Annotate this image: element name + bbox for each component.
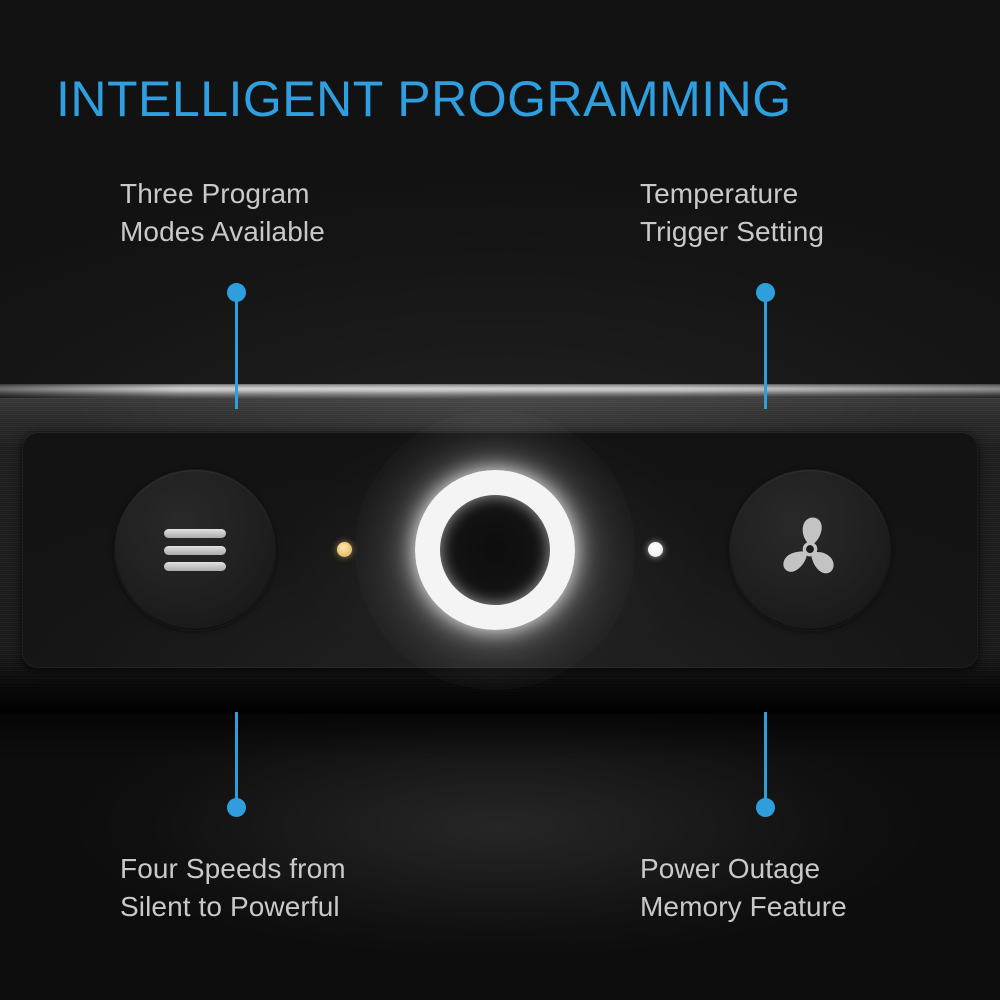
leader-dot — [227, 798, 246, 817]
callout-bottom-right: Power Outage Memory Feature — [640, 850, 847, 927]
device-top-bevel — [0, 384, 1000, 398]
callout-top-left: Three Program Modes Available — [120, 175, 325, 252]
leader-stem — [235, 712, 238, 804]
product-feature-infographic: INTELLIGENT PROGRAMMING Three Program Mo… — [0, 0, 1000, 1000]
amber-led-indicator — [337, 542, 352, 557]
leader-dot — [756, 798, 775, 817]
fan-propeller-icon — [767, 507, 853, 593]
hamburger-menu-icon — [164, 529, 226, 571]
hamburger-bar — [164, 562, 226, 571]
power-button[interactable] — [415, 470, 575, 630]
hamburger-bar — [164, 529, 226, 538]
callout-bottom-left: Four Speeds from Silent to Powerful — [120, 850, 346, 927]
mode-button[interactable] — [115, 470, 275, 630]
speed-button[interactable] — [730, 470, 890, 630]
power-ring-icon — [415, 470, 575, 630]
leader-stem — [764, 299, 767, 409]
callout-top-right: Temperature Trigger Setting — [640, 175, 824, 252]
leader-stem — [235, 299, 238, 409]
leader-stem — [764, 712, 767, 804]
page-title: INTELLIGENT PROGRAMMING — [56, 70, 792, 128]
hamburger-bar — [164, 546, 226, 555]
white-led-indicator — [648, 542, 663, 557]
